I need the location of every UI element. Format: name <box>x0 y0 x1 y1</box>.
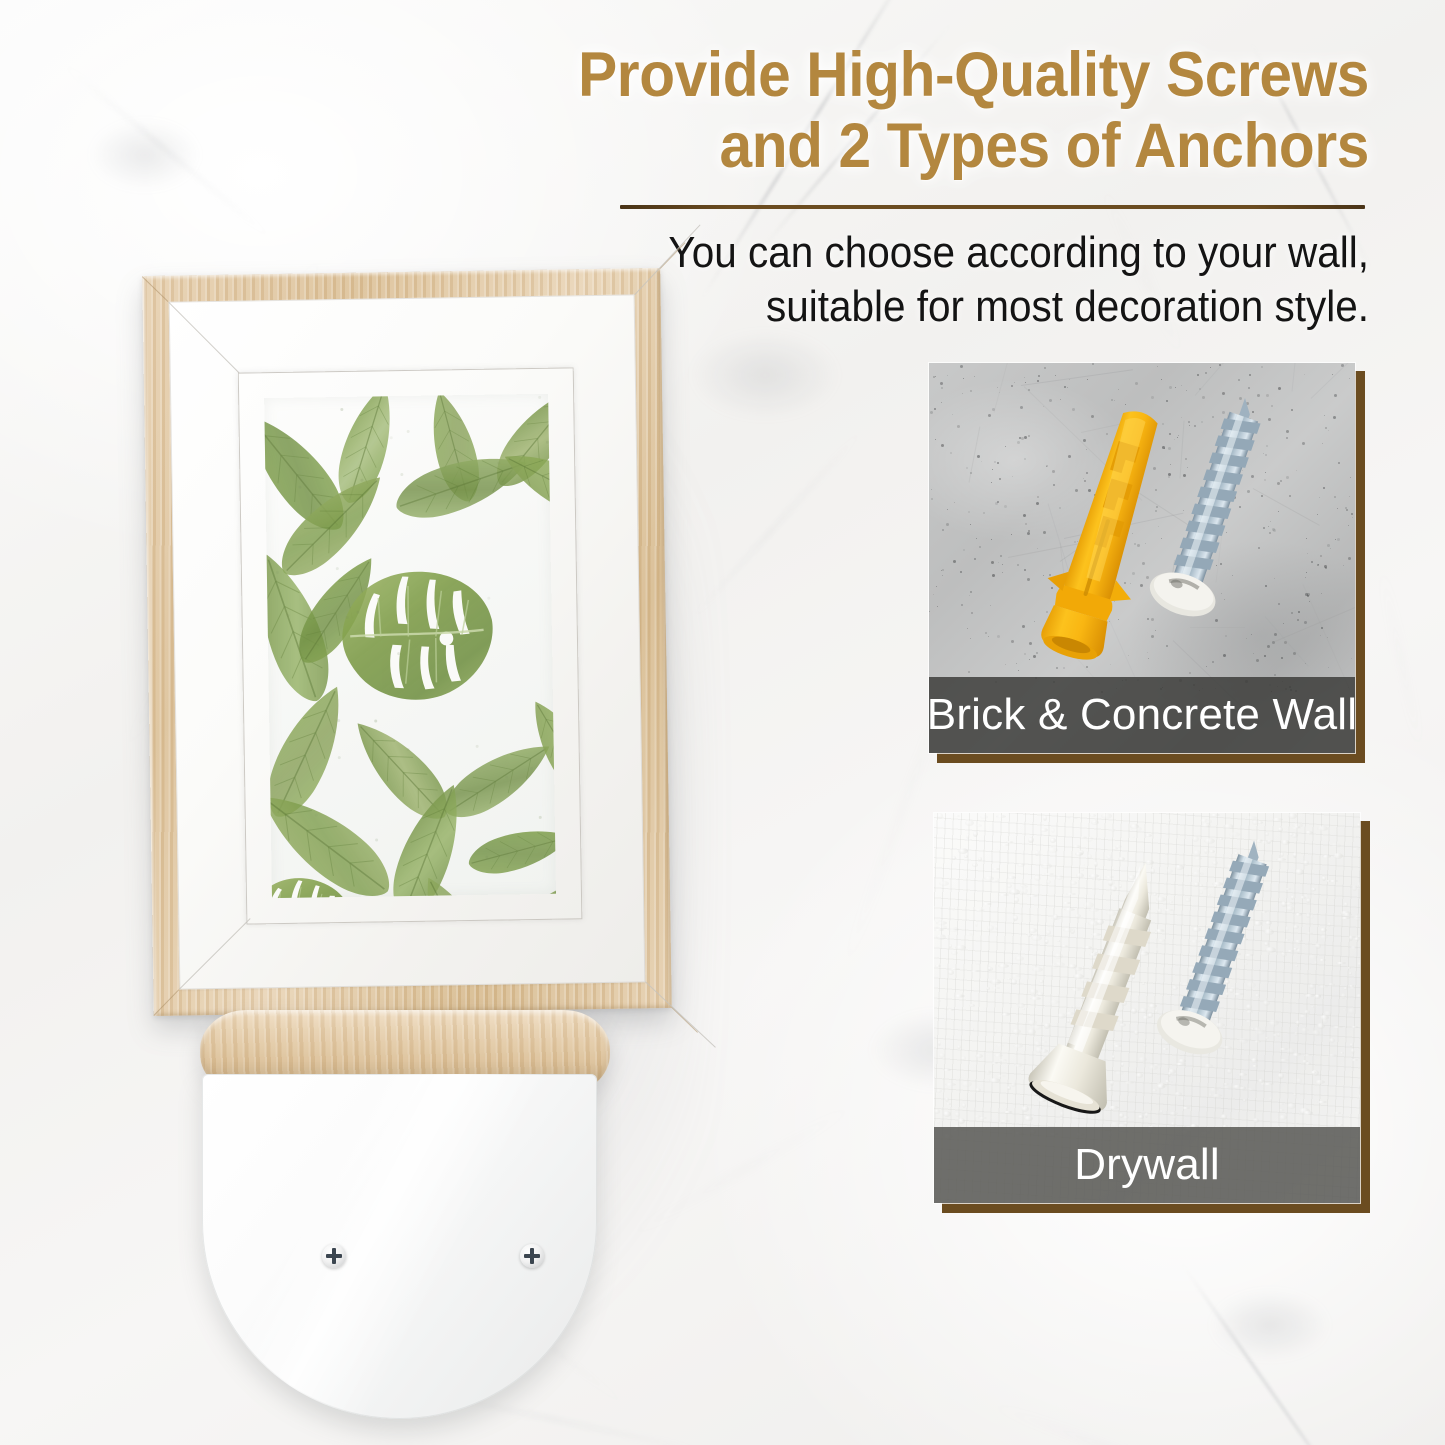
header-divider-rule <box>620 205 1365 209</box>
headline-line-2: and 2 Types of Anchors <box>327 112 1369 180</box>
frame-white-mat <box>169 294 646 989</box>
product-photo-frame-shelf <box>140 268 700 1408</box>
infographic-canvas: Provide High-Quality Screws and 2 Types … <box>0 0 1445 1445</box>
panel-brick-concrete-caption: Brick & Concrete Wall <box>929 677 1355 753</box>
picture-frame-wood-border <box>142 268 672 1016</box>
panel-drywall-body: Drywall <box>933 812 1361 1204</box>
wall-mounting-plate <box>202 1074 597 1419</box>
artwork-tropical-leaf-print <box>264 394 556 898</box>
panel-drywall[interactable]: Drywall <box>933 812 1361 1204</box>
mounting-screw-right <box>520 1244 544 1268</box>
mat-mitre-tl <box>168 302 239 374</box>
zinc-screw-icon <box>1135 385 1285 645</box>
mat-mitre-bl <box>179 918 251 989</box>
zinc-screw-icon-drywall <box>1142 829 1292 1084</box>
panel-brick-concrete[interactable]: Brick & Concrete Wall <box>928 362 1356 754</box>
panel-brick-concrete-body: Brick & Concrete Wall <box>928 362 1356 754</box>
panel-drywall-caption: Drywall <box>934 1127 1360 1203</box>
mounting-screw-left <box>322 1244 346 1268</box>
headline-line-1: Provide High-Quality Screws <box>327 41 1369 109</box>
